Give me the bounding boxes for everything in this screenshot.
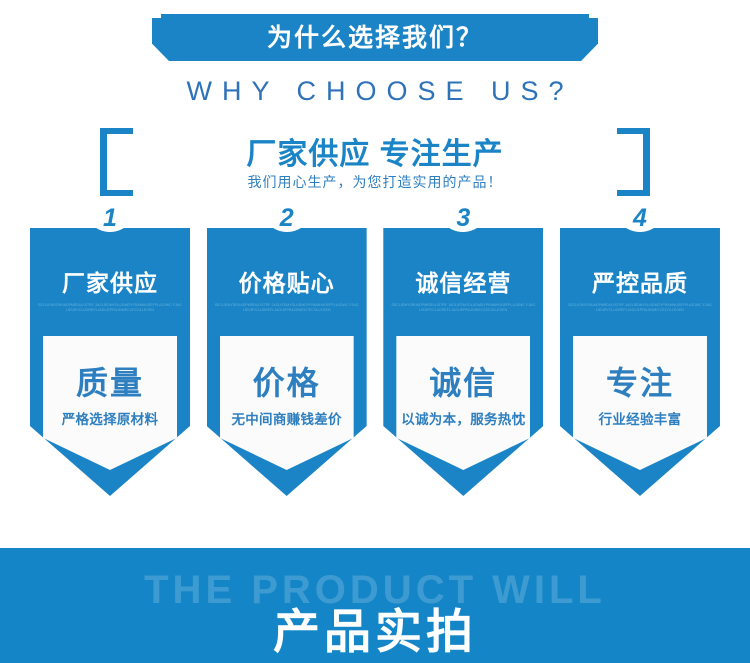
- why-choose-us-banner: 为什么选择我们？: [152, 14, 598, 61]
- ribbon-big-label: 诚信: [396, 358, 530, 404]
- right-bracket-icon: [617, 128, 650, 196]
- feature-ribbon: 3 诚信经营 SECLIEMYDRUADPMRDULISTRF JAGLIEDM…: [383, 206, 543, 496]
- ribbon-micro-text: SECLIEMYDRUADPMRDULISTRF JAGLIEDMYDLUDMD…: [38, 303, 182, 314]
- product-photos-section: THE PRODUCT WILL 产品实拍: [0, 548, 750, 663]
- ribbon-number: 4: [614, 205, 666, 231]
- ribbon-caption: 严格选择原材料: [35, 408, 185, 428]
- feature-ribbon-row: 1 厂家供应 SECLIEMYDRUADPMRDULISTRF JAGLIEDM…: [30, 206, 720, 496]
- ribbon-number: 1: [84, 205, 136, 231]
- ribbon-caption: 行业经验丰富: [565, 408, 715, 428]
- ribbon-caption: 以诚为本，服务热忱: [388, 408, 538, 428]
- ribbon-micro-text: SECLIEMYDRUADPMRDULISTRF JAGLIEDMYDLUDMD…: [391, 303, 535, 314]
- ribbon-number: 3: [437, 205, 489, 231]
- ribbon-number: 2: [261, 205, 313, 231]
- feature-ribbon: 4 严控品质 SECLIEMYDRUADPMRDULISTRF JAGLIEDM…: [560, 206, 720, 496]
- feature-ribbon: 2 价格贴心 SECLIEMYDRUADPMRDULISTRF JAGLIEDM…: [207, 206, 367, 496]
- ribbon-big-label: 价格: [220, 358, 354, 404]
- ribbon-big-label: 专注: [573, 358, 707, 404]
- ribbon-title: 诚信经营: [383, 264, 543, 298]
- ribbon-micro-text: SECLIEMYDRUADPMRDULISTRF JAGLIEDMYDLUDMD…: [215, 303, 359, 314]
- footer-title: 产品实拍: [0, 593, 750, 662]
- ribbon-big-label: 质量: [43, 358, 177, 404]
- english-title: WHY CHOOSE US?: [0, 76, 750, 107]
- ribbon-title: 厂家供应: [30, 264, 190, 298]
- ribbon-title: 严控品质: [560, 264, 720, 298]
- ribbon-micro-text: SECLIEMYDRUADPMRDULISTRF JAGLIEDMYDLUDMD…: [568, 303, 712, 314]
- feature-ribbon: 1 厂家供应 SECLIEMYDRUADPMRDULISTRF JAGLIEDM…: [30, 206, 190, 496]
- ribbon-caption: 无中间商赚钱差价: [212, 408, 362, 428]
- banner-title: 为什么选择我们？: [152, 14, 598, 61]
- left-bracket-icon: [100, 128, 133, 196]
- ribbon-title: 价格贴心: [207, 264, 367, 298]
